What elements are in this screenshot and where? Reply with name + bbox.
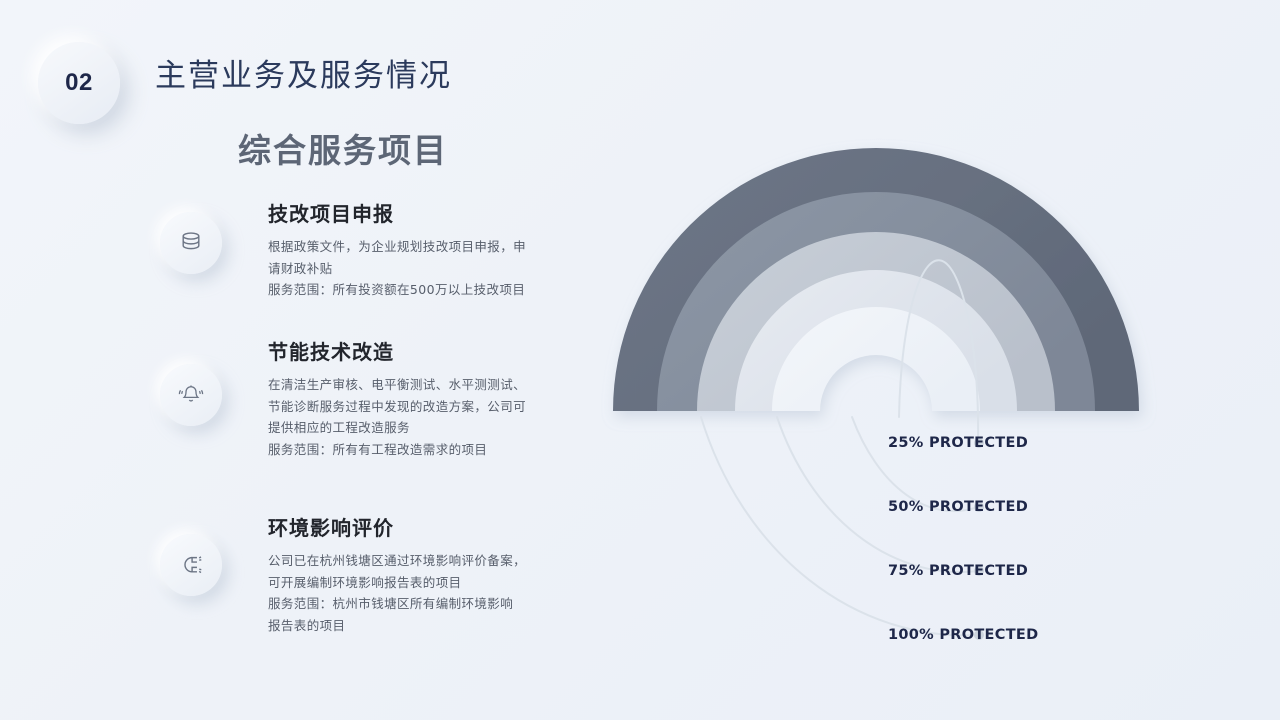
feature-title: 节能技术改造: [268, 336, 590, 365]
feature-line: 提供相应的工程改造服务: [268, 417, 590, 439]
slide-canvas: 02 主营业务及服务情况 综合服务项目 技改项目申报 根据政策文件，为企业规划技…: [0, 0, 1280, 720]
magnet-icon: [160, 534, 222, 596]
feature-item-1: 技改项目申报 根据政策文件，为企业规划技改项目申报，申 请财政补贴 服务范围：所…: [160, 198, 590, 301]
arc-ring-group: [613, 148, 1139, 411]
feature-title: 技改项目申报: [268, 198, 590, 227]
feature-title: 环境影响评价: [268, 512, 590, 541]
connector-50: [852, 417, 978, 511]
legend-label-50: 50% PROTECTED: [888, 499, 1028, 515]
feature-text-3: 环境影响评价 公司已在杭州钱塘区通过环境影响评价备案， 可开展编制环境影响报告表…: [268, 512, 590, 636]
database-icon: [160, 212, 222, 274]
section-title: 综合服务项目: [238, 124, 448, 172]
feature-line: 可开展编制环境影响报告表的项目: [268, 572, 590, 594]
feature-line: 报告表的项目: [268, 615, 590, 637]
section-number: 02: [65, 69, 93, 97]
legend-label-25: 25% PROTECTED: [888, 435, 1028, 451]
feature-text-2: 节能技术改造 在清洁生产审核、电平衡测试、水平测测试、 节能诊断服务过程中发现的…: [268, 336, 590, 460]
feature-line: 根据政策文件，为企业规划技改项目申报，申: [268, 236, 590, 258]
feature-line: 节能诊断服务过程中发现的改造方案，公司可: [268, 396, 590, 418]
connector-dots: [974, 438, 984, 640]
feature-line: 服务范围：所有有工程改造需求的项目: [268, 439, 590, 461]
page-title: 主营业务及服务情况: [155, 50, 452, 95]
feature-item-2: 节能技术改造 在清洁生产审核、电平衡测试、水平测测试、 节能诊断服务过程中发现的…: [160, 336, 590, 460]
legend-label-75: 75% PROTECTED: [888, 563, 1028, 579]
arc-chart-svg: [560, 80, 1260, 680]
feature-line: 请财政补贴: [268, 258, 590, 280]
feature-line: 服务范围：杭州市钱塘区所有编制环境影响: [268, 593, 590, 615]
radial-arc-chart: 25% PROTECTED 50% PROTECTED 75% PROTECTE…: [560, 80, 1260, 680]
feature-line: 服务范围：所有投资额在500万以上技改项目: [268, 279, 590, 301]
feature-item-3: 环境影响评价 公司已在杭州钱塘区通过环境影响评价备案， 可开展编制环境影响报告表…: [160, 512, 590, 636]
feature-line: 公司已在杭州钱塘区通过环境影响评价备案，: [268, 550, 590, 572]
feature-line: 在清洁生产审核、电平衡测试、水平测测试、: [268, 374, 590, 396]
bell-icon: [160, 364, 222, 426]
feature-text-1: 技改项目申报 根据政策文件，为企业规划技改项目申报，申 请财政补贴 服务范围：所…: [268, 198, 590, 301]
section-number-badge: 02: [38, 42, 120, 124]
legend-label-100: 100% PROTECTED: [888, 627, 1038, 643]
